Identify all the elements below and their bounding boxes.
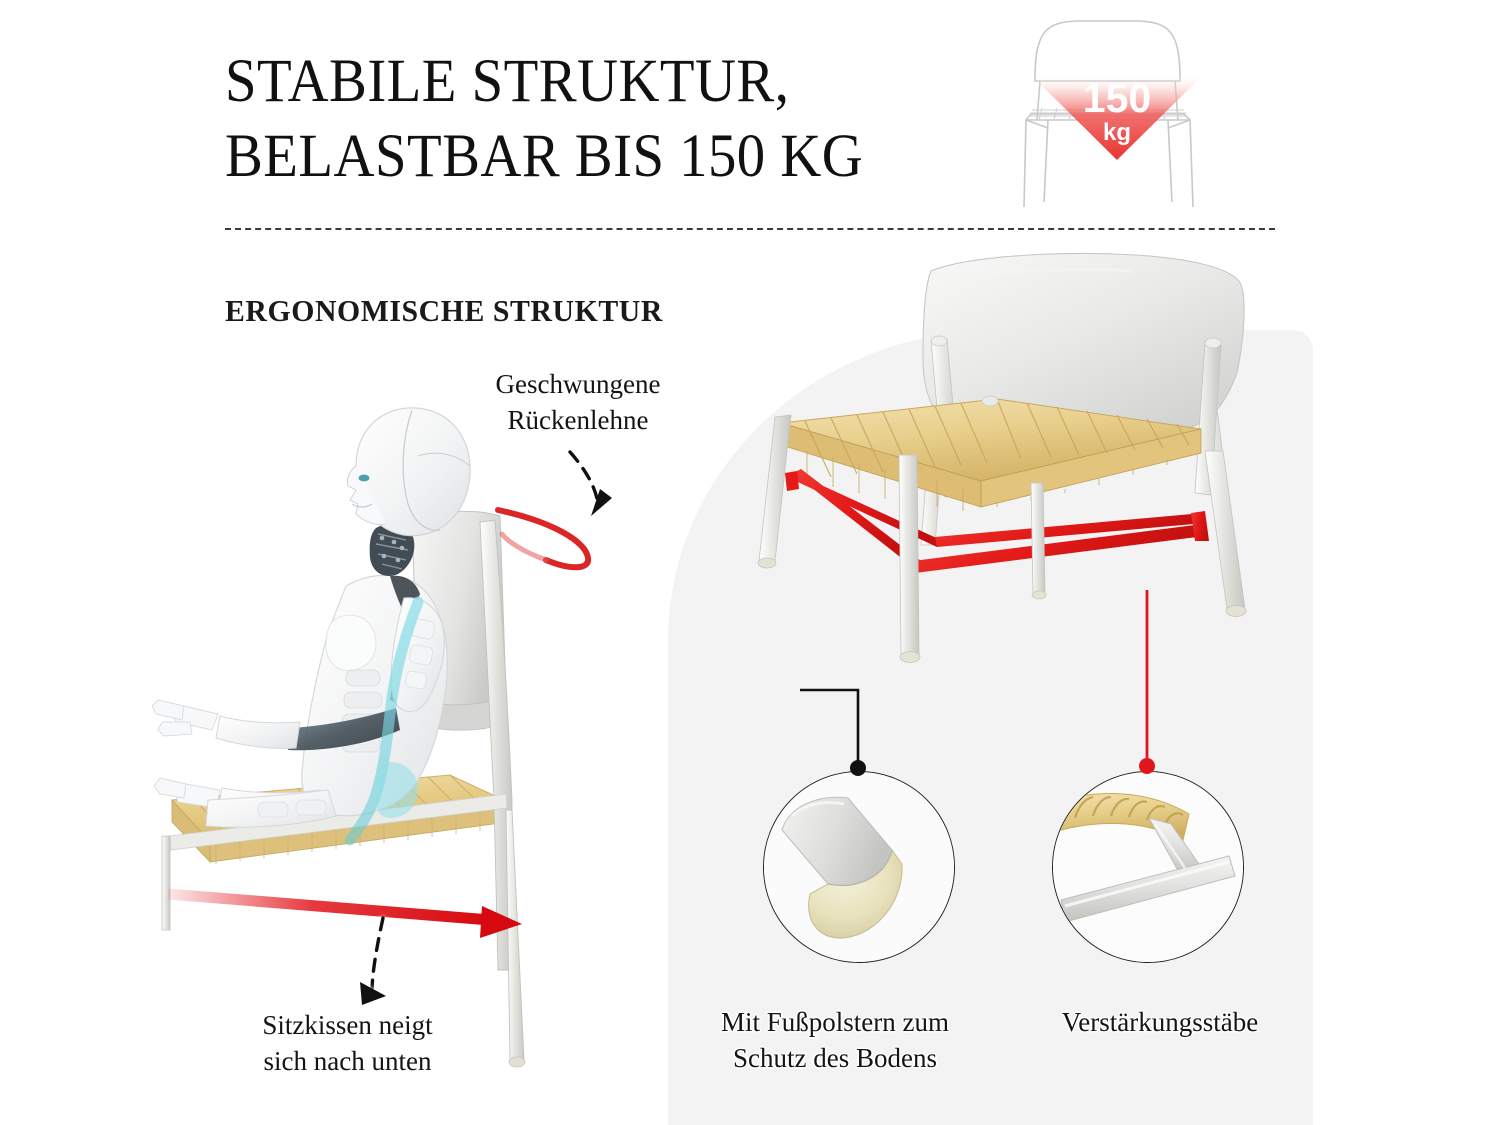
callout-foot-pad: Mit Fußpolstern zum Schutz des Bodens bbox=[690, 1005, 980, 1076]
header-divider bbox=[225, 228, 1275, 230]
android-mannequin bbox=[152, 408, 470, 840]
reinforcement-bar-detail-circle bbox=[1052, 771, 1244, 963]
backrest-curve-arc bbox=[498, 510, 588, 567]
load-capacity-badge: 150 kg bbox=[1012, 2, 1222, 214]
headline-line-1: STABILE STRUKTUR, bbox=[225, 48, 789, 115]
load-unit: kg bbox=[1103, 119, 1131, 146]
callout-seat-line1: Sitzkissen neigt bbox=[262, 1010, 432, 1040]
callout-backrest: Geschwungene Rückenlehne bbox=[468, 367, 688, 438]
load-value: 150 bbox=[1083, 75, 1151, 121]
infographic-canvas: STABILE STRUKTUR, BELASTBAR BIS 150 KG E… bbox=[0, 0, 1500, 1125]
seat-slope-arrow bbox=[168, 894, 522, 938]
headline-line-2: BELASTBAR BIS 150 KG bbox=[225, 119, 960, 194]
callout-seat-line2: sich nach unten bbox=[264, 1046, 432, 1076]
callout-foot-pad-line2: Schutz des Bodens bbox=[733, 1043, 937, 1073]
callout-foot-pad-line1: Mit Fußpolstern zum bbox=[721, 1007, 949, 1037]
callout-seat: Sitzkissen neigt sich nach unten bbox=[230, 1008, 465, 1079]
section-subheading: ERGONOMISCHE STRUKTUR bbox=[225, 293, 663, 329]
page-title: STABILE STRUKTUR, BELASTBAR BIS 150 KG bbox=[225, 44, 960, 194]
ergonomics-illustration bbox=[150, 370, 650, 1110]
callout-reinforcement: Verstärkungsstäbe bbox=[1025, 1005, 1295, 1041]
foot-pad-detail-circle bbox=[763, 771, 955, 963]
callout-backrest-line2: Rückenlehne bbox=[508, 405, 649, 435]
chair-product-illustration bbox=[735, 245, 1295, 745]
callout-backrest-line1: Geschwungene bbox=[496, 369, 661, 399]
